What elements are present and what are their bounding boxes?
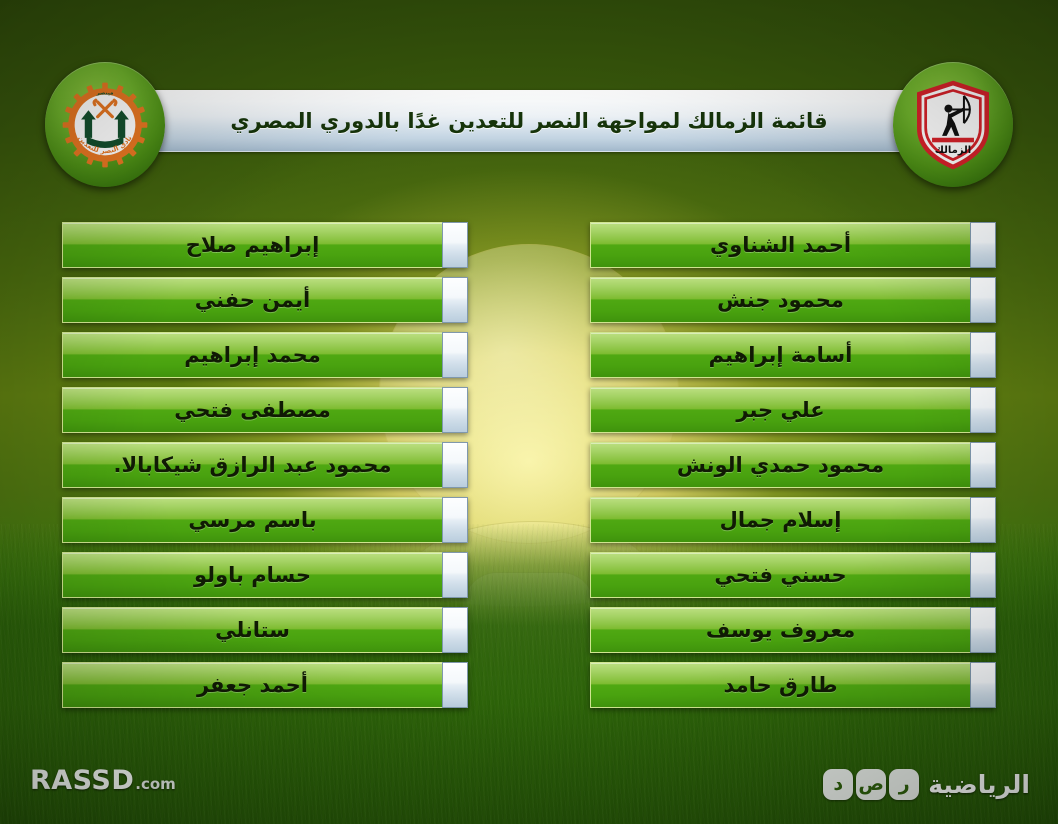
player-pill: أيمن حفني	[62, 277, 442, 323]
row-tab	[970, 497, 996, 543]
rassd-logo-icon: ر ص د	[823, 769, 919, 800]
player-name: معروف يوسف	[706, 618, 855, 642]
player-row[interactable]: أسامة إبراهيم	[590, 332, 996, 378]
player-name: ستانلي	[215, 618, 290, 642]
player-pill: أحمد جعفر	[62, 662, 442, 708]
player-name: علي جبر	[736, 398, 824, 422]
rassd-wordmark: RASSD .com	[30, 765, 176, 796]
logo-glyph: ص	[858, 775, 884, 794]
player-pill: إسلام جمال	[590, 497, 970, 543]
player-name: محمد إبراهيم	[184, 343, 321, 367]
row-tab	[442, 662, 468, 708]
player-pill: معروف يوسف	[590, 607, 970, 653]
player-row[interactable]: علي جبر	[590, 387, 996, 433]
row-tab	[442, 497, 468, 543]
row-tab	[970, 442, 996, 488]
player-pill: محمود حمدي الونش	[590, 442, 970, 488]
player-name: أيمن حفني	[195, 288, 310, 312]
player-name: محمود عبد الرازق شيكابالا.	[113, 453, 391, 477]
player-name: أسامة إبراهيم	[709, 343, 853, 367]
player-name: محمود جنش	[717, 288, 844, 312]
player-name: إسلام جمال	[720, 508, 842, 532]
player-row[interactable]: مصطفى فتحي	[62, 387, 468, 433]
row-tab	[970, 552, 996, 598]
player-pill: أسامة إبراهيم	[590, 332, 970, 378]
logo-tile-sad: ص	[856, 769, 886, 800]
rassd-tld-text: .com	[135, 775, 176, 793]
row-tab	[442, 332, 468, 378]
player-column-left: إبراهيم صلاح أيمن حفني محمد إبراهيم مصطف…	[62, 222, 468, 717]
player-pill: علي جبر	[590, 387, 970, 433]
rassd-sports-label: الرياضية	[928, 770, 1030, 799]
player-row[interactable]: أيمن حفني	[62, 277, 468, 323]
player-pill: حسني فتحي	[590, 552, 970, 598]
title-banner: قائمة الزمالك لمواجهة النصر للتعدين غدًا…	[110, 90, 948, 152]
row-tab	[442, 387, 468, 433]
row-tab	[442, 552, 468, 598]
zamalek-badge: الزمالك	[893, 62, 1013, 187]
row-tab	[442, 607, 468, 653]
player-row[interactable]: حسني فتحي	[590, 552, 996, 598]
row-tab	[442, 442, 468, 488]
logo-glyph: د	[833, 775, 843, 794]
player-pill: أحمد الشناوي	[590, 222, 970, 268]
row-tab	[970, 277, 996, 323]
row-tab	[970, 222, 996, 268]
player-pill: محمود جنش	[590, 277, 970, 323]
player-pill: محمد إبراهيم	[62, 332, 442, 378]
player-row[interactable]: إبراهيم صلاح	[62, 222, 468, 268]
player-row[interactable]: أحمد جعفر	[62, 662, 468, 708]
player-pill: طارق حامد	[590, 662, 970, 708]
player-pill: باسم مرسي	[62, 497, 442, 543]
player-pill: ستانلي	[62, 607, 442, 653]
player-name: أحمد جعفر	[197, 673, 308, 697]
player-pill: محمود عبد الرازق شيكابالا.	[62, 442, 442, 488]
player-name: باسم مرسي	[188, 508, 316, 532]
row-tab	[970, 387, 996, 433]
player-name: إبراهيم صلاح	[186, 233, 320, 257]
footer: RASSD .com الرياضية ر ص د	[0, 756, 1058, 802]
player-row[interactable]: أحمد الشناوي	[590, 222, 996, 268]
player-row[interactable]: ستانلي	[62, 607, 468, 653]
svg-text:مينصر: مينصر	[96, 90, 114, 96]
squad-lists: أحمد الشناوي محمود جنش أسامة إبراهيم علي…	[0, 222, 1058, 717]
player-row[interactable]: باسم مرسي	[62, 497, 468, 543]
player-row[interactable]: معروف يوسف	[590, 607, 996, 653]
row-tab	[970, 332, 996, 378]
player-column-right: أحمد الشناوي محمود جنش أسامة إبراهيم علي…	[590, 222, 996, 717]
svg-text:الزمالك: الزمالك	[935, 145, 971, 156]
player-row[interactable]: طارق حامد	[590, 662, 996, 708]
row-tab	[970, 607, 996, 653]
player-pill: حسام باولو	[62, 552, 442, 598]
logo-tile-dal: د	[823, 769, 853, 800]
page-title: قائمة الزمالك لمواجهة النصر للتعدين غدًا…	[190, 108, 867, 134]
player-row[interactable]: محمود جنش	[590, 277, 996, 323]
player-row[interactable]: محمود حمدي الونش	[590, 442, 996, 488]
player-name: حسام باولو	[194, 563, 311, 587]
player-row[interactable]: محمد إبراهيم	[62, 332, 468, 378]
player-row[interactable]: حسام باولو	[62, 552, 468, 598]
rassd-brand-text: RASSD	[30, 765, 134, 796]
player-pill: مصطفى فتحي	[62, 387, 442, 433]
row-tab	[442, 277, 468, 323]
player-row[interactable]: محمود عبد الرازق شيكابالا.	[62, 442, 468, 488]
player-name: أحمد الشناوي	[710, 233, 851, 257]
el-nasr-logo-icon: مينصر نادي النصر للتعدين	[59, 79, 151, 171]
player-pill: إبراهيم صلاح	[62, 222, 442, 268]
rassd-sports-wordmark: الرياضية ر ص د	[823, 769, 1030, 800]
squad-graphic: قائمة الزمالك لمواجهة النصر للتعدين غدًا…	[0, 0, 1058, 824]
row-tab	[970, 662, 996, 708]
player-name: مصطفى فتحي	[174, 398, 331, 422]
player-name: حسني فتحي	[714, 563, 846, 587]
el-nasr-mining-badge: مينصر نادي النصر للتعدين	[45, 62, 165, 187]
player-row[interactable]: إسلام جمال	[590, 497, 996, 543]
player-name: محمود حمدي الونش	[677, 453, 884, 477]
player-name: طارق حامد	[724, 673, 838, 697]
zamalek-logo-icon: الزمالك	[912, 79, 994, 171]
logo-tile-ra: ر	[889, 769, 919, 800]
row-tab	[442, 222, 468, 268]
header: قائمة الزمالك لمواجهة النصر للتعدين غدًا…	[0, 62, 1058, 187]
logo-glyph: ر	[899, 775, 910, 794]
